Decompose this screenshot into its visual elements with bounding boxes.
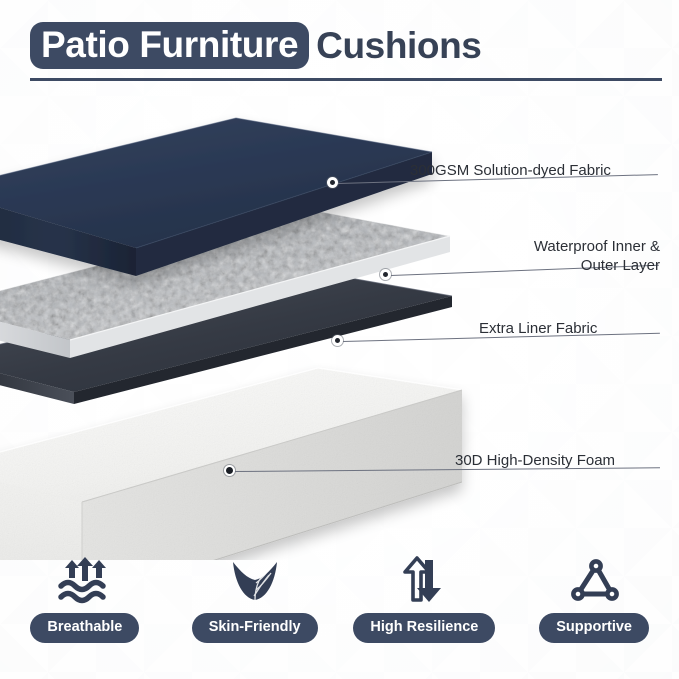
title-suffix-label: Cushions [316,27,481,64]
feature-label-skin-friendly[interactable]: Skin-Friendly [192,613,318,643]
infographic-canvas: Patio Furniture Cushions [0,0,679,679]
triangle-nodes-icon [564,556,624,604]
callout-label-waterproof-line2: Outer Layer [581,257,660,274]
feature-label-high-resilience[interactable]: High Resilience [353,613,495,643]
feature-skin-friendly[interactable]: Skin-Friendly [180,556,330,643]
callout-dot-fabric [327,177,338,188]
callout-label-fabric: 300GSM Solution-dyed Fabric [410,162,611,181]
feature-high-resilience[interactable]: High Resilience [349,556,499,643]
callout-label-foam: 30D High-Density Foam [455,452,615,471]
title-badge-label: Patio Furniture [41,24,298,65]
callout-label-liner: Extra Liner Fabric [479,320,597,339]
callout-dot-foam [224,465,235,476]
page-title: Patio Furniture Cushions [30,22,482,69]
feature-supportive[interactable]: Supportive [519,556,669,643]
callout-dot-waterproof [380,269,391,280]
feature-label-supportive[interactable]: Supportive [539,613,649,643]
callout-dot-liner [332,335,343,346]
title-divider [30,78,662,81]
feather-icon [225,556,285,604]
feature-label-breathable[interactable]: Breathable [30,613,139,643]
up-down-arrows-icon [394,556,454,604]
header: Patio Furniture Cushions [0,0,679,86]
callout-label-waterproof-line1: Waterproof Inner & [534,238,660,255]
title-badge: Patio Furniture [30,22,309,69]
arrows-up-over-waves-icon [55,556,115,604]
feature-badges: Breathable Skin-Friendly [0,556,679,666]
feature-breathable[interactable]: Breathable [10,556,160,643]
callout-label-waterproof: Waterproof Inner & Outer Layer [420,238,660,276]
